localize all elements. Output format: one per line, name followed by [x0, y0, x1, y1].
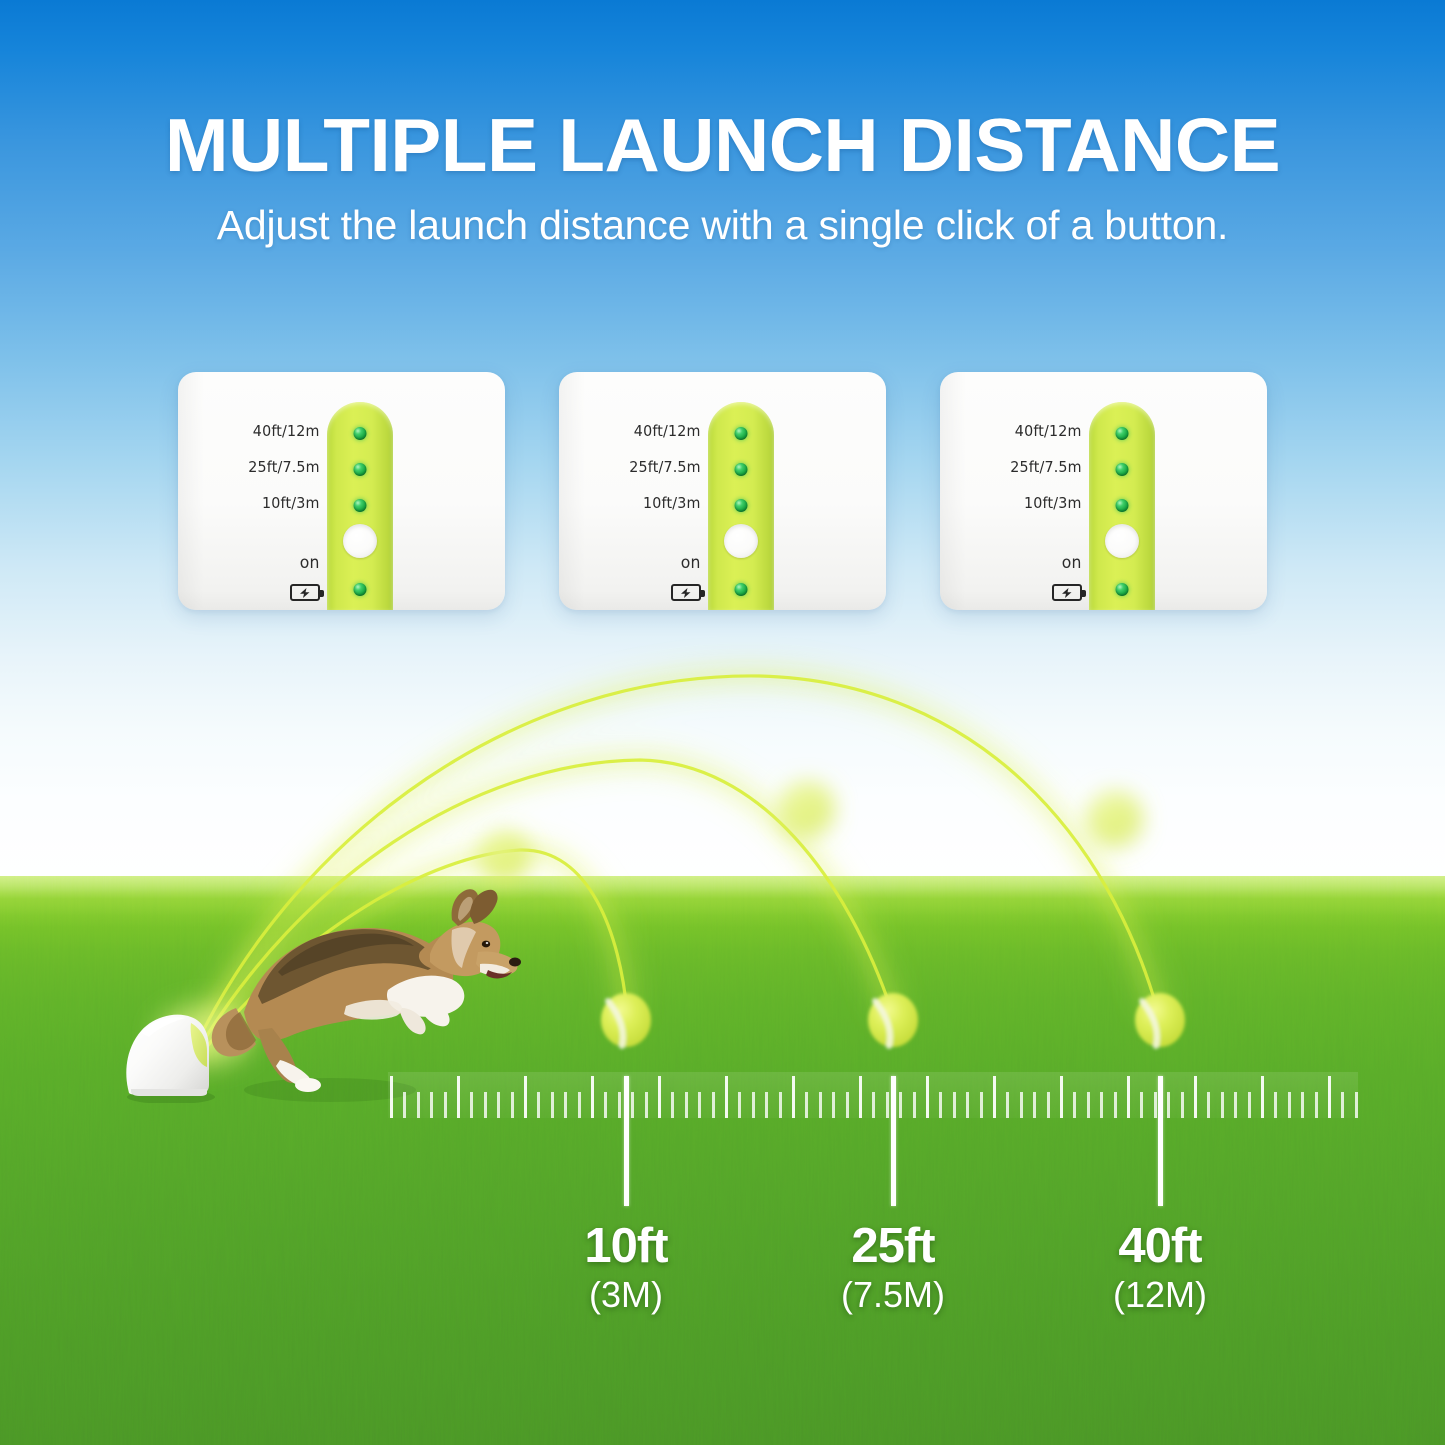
panel-labels-2: 40ft/12m 25ft/7.5m 10ft/3m on	[585, 372, 701, 610]
ruler-tick	[725, 1076, 728, 1118]
battery-charging-icon	[1052, 584, 1082, 601]
ruler-tick	[953, 1092, 956, 1118]
ruler-tick	[457, 1076, 460, 1118]
led-40ft-3	[1116, 427, 1129, 440]
led-25ft-1	[354, 463, 367, 476]
ruler-tick	[604, 1092, 607, 1118]
label-25ft-2: 25ft/7.5m	[629, 458, 701, 476]
battery-charging-icon	[290, 584, 320, 601]
ruler-tick	[470, 1092, 473, 1118]
page-title: MULTIPLE LAUNCH DISTANCE	[0, 108, 1445, 183]
led-40ft-1	[354, 427, 367, 440]
ruler-tick	[1100, 1092, 1103, 1118]
ruler-tick	[1288, 1092, 1291, 1118]
ruler-tick	[484, 1092, 487, 1118]
ruler-tick	[1114, 1092, 1117, 1118]
ruler-tick	[765, 1092, 768, 1118]
ruler-tick	[1274, 1092, 1277, 1118]
distance-meters-10: (3M)	[526, 1274, 726, 1315]
ruler-tick	[645, 1092, 648, 1118]
ruler-tick	[1006, 1092, 1009, 1118]
ruler-tick	[685, 1092, 688, 1118]
distance-feet-25: 25ft	[793, 1222, 993, 1271]
ruler-tick	[872, 1092, 875, 1118]
label-on-2: on	[681, 553, 701, 573]
control-panel-40ft[interactable]: 40ft/12m 25ft/7.5m 10ft/3m on	[940, 372, 1267, 610]
led-on-2	[735, 583, 748, 596]
ruler-tick	[712, 1092, 715, 1118]
ruler-tick	[1087, 1092, 1090, 1118]
ruler-tick	[1248, 1092, 1251, 1118]
led-on-3	[1116, 583, 1129, 596]
ruler-tick	[578, 1092, 581, 1118]
power-button-1[interactable]	[343, 524, 377, 558]
ruler-tick	[779, 1092, 782, 1118]
ruler-tick	[1355, 1092, 1358, 1118]
ruler-tick	[859, 1076, 862, 1118]
ruler-tick	[564, 1092, 567, 1118]
ruler-tick	[591, 1076, 594, 1118]
ruler-tick	[1301, 1092, 1304, 1118]
ruler-tick	[926, 1076, 929, 1118]
ruler-tick	[524, 1076, 527, 1118]
ruler-tick	[939, 1092, 942, 1118]
led-25ft-2	[735, 463, 748, 476]
ruler-tick	[537, 1092, 540, 1118]
bolt-glyph	[297, 587, 313, 599]
control-panel-cards: 40ft/12m 25ft/7.5m 10ft/3m on 40ft/12m 2…	[0, 372, 1445, 612]
distance-meters-25: (7.5M)	[793, 1274, 993, 1315]
distance-meters-40: (12M)	[1060, 1274, 1260, 1315]
ruler-tick	[658, 1076, 661, 1118]
ruler-tick	[1140, 1092, 1143, 1118]
label-25ft-1: 25ft/7.5m	[248, 458, 320, 476]
ruler-tick	[1221, 1092, 1224, 1118]
panel-strip-1	[327, 402, 393, 610]
marker-line-10ft	[624, 1076, 629, 1206]
label-on-3: on	[1062, 553, 1082, 573]
ruler-tick	[1073, 1092, 1076, 1118]
panel-labels-3: 40ft/12m 25ft/7.5m 10ft/3m on	[966, 372, 1082, 610]
ruler-tick	[1154, 1092, 1157, 1118]
ruler-tick	[671, 1092, 674, 1118]
ruler-tick	[832, 1092, 835, 1118]
ruler-tick	[444, 1092, 447, 1118]
label-10ft-1: 10ft/3m	[262, 494, 320, 512]
ruler-tick	[1194, 1076, 1197, 1118]
ruler-tick	[1127, 1076, 1130, 1118]
ruler-tick	[899, 1092, 902, 1118]
ruler-tick	[966, 1092, 969, 1118]
ruler-tick	[551, 1092, 554, 1118]
led-25ft-3	[1116, 463, 1129, 476]
control-panel-25ft[interactable]: 40ft/12m 25ft/7.5m 10ft/3m on	[559, 372, 886, 610]
marker-line-40ft	[1158, 1076, 1163, 1206]
ruler-tick	[618, 1092, 621, 1118]
ruler-tick	[792, 1076, 795, 1118]
header-section: MULTIPLE LAUNCH DISTANCE Adjust the laun…	[0, 0, 1445, 248]
ruler-tick	[497, 1092, 500, 1118]
led-on-1	[354, 583, 367, 596]
led-40ft-2	[735, 427, 748, 440]
page-subtitle: Adjust the launch distance with a single…	[0, 203, 1445, 248]
ruler-tick	[819, 1092, 822, 1118]
bolt-glyph	[1059, 587, 1075, 599]
panel-labels-1: 40ft/12m 25ft/7.5m 10ft/3m on	[204, 372, 320, 610]
ruler-tick	[1328, 1076, 1331, 1118]
ball-landed-40ft	[1135, 993, 1185, 1047]
label-10ft-3: 10ft/3m	[1024, 494, 1082, 512]
distance-feet-10: 10ft	[526, 1222, 726, 1271]
ruler-tick	[1207, 1092, 1210, 1118]
marker-line-25ft	[891, 1076, 896, 1206]
ball-launcher-device	[117, 1005, 225, 1103]
distance-ruler	[388, 1072, 1358, 1118]
jumping-sheltie-dog	[212, 889, 521, 1102]
label-40ft-3: 40ft/12m	[1015, 422, 1082, 440]
ball-airborne-25ft	[779, 782, 835, 838]
ruler-tick	[698, 1092, 701, 1118]
ruler-tick	[980, 1092, 983, 1118]
ruler-tick	[1060, 1076, 1063, 1118]
label-10ft-2: 10ft/3m	[643, 494, 701, 512]
ruler-tick	[631, 1092, 634, 1118]
ball-airborne-40ft	[1087, 792, 1143, 848]
ruler-tick	[1033, 1092, 1036, 1118]
ball-landed-10ft	[601, 993, 651, 1047]
led-10ft-1	[354, 499, 367, 512]
battery-charging-icon	[671, 584, 701, 601]
ruler-tick	[511, 1092, 514, 1118]
panel-strip-2	[708, 402, 774, 610]
ruler-tick	[846, 1092, 849, 1118]
ruler-tick	[738, 1092, 741, 1118]
ruler-tick	[1234, 1092, 1237, 1118]
distance-label-25ft: 25ft (7.5M)	[793, 1222, 993, 1315]
ruler-tick	[752, 1092, 755, 1118]
control-panel-10ft[interactable]: 40ft/12m 25ft/7.5m 10ft/3m on	[178, 372, 505, 610]
panel-strip-3	[1089, 402, 1155, 610]
distance-feet-40: 40ft	[1060, 1222, 1260, 1271]
ruler-tick	[1261, 1076, 1264, 1118]
ball-airborne-10ft	[479, 832, 531, 884]
led-10ft-3	[1116, 499, 1129, 512]
ruler-tick	[417, 1092, 420, 1118]
ruler-tick	[1167, 1092, 1170, 1118]
distance-label-10ft: 10ft (3M)	[526, 1222, 726, 1315]
label-40ft-2: 40ft/12m	[634, 422, 701, 440]
ruler-tick	[390, 1076, 393, 1118]
ruler-tick	[1181, 1092, 1184, 1118]
ruler-tick	[1341, 1092, 1344, 1118]
ruler-tick	[1047, 1092, 1050, 1118]
bolt-glyph	[678, 587, 694, 599]
ruler-tick	[913, 1092, 916, 1118]
led-10ft-2	[735, 499, 748, 512]
label-on-1: on	[300, 553, 320, 573]
power-button-2[interactable]	[724, 524, 758, 558]
label-40ft-1: 40ft/12m	[253, 422, 320, 440]
ruler-tick	[886, 1092, 889, 1118]
ruler-tick	[430, 1092, 433, 1118]
ruler-tick	[1315, 1092, 1318, 1118]
ruler-tick	[805, 1092, 808, 1118]
label-25ft-3: 25ft/7.5m	[1010, 458, 1082, 476]
ruler-tick	[993, 1076, 996, 1118]
ruler-tick	[403, 1092, 406, 1118]
ball-landed-25ft	[868, 993, 918, 1047]
power-button-3[interactable]	[1105, 524, 1139, 558]
ruler-tick	[1020, 1092, 1023, 1118]
distance-label-40ft: 40ft (12M)	[1060, 1222, 1260, 1315]
